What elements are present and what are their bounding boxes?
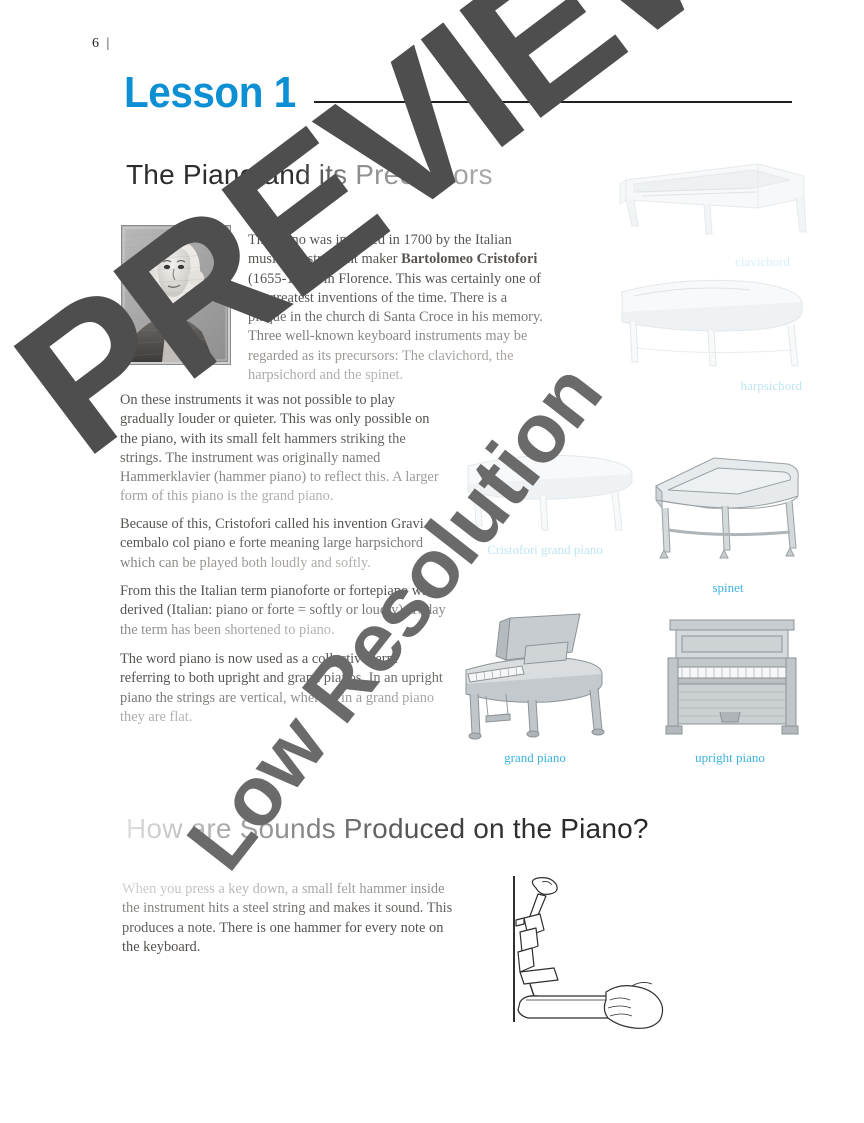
paragraph-4-text: From this the Italian term pianoforte or… — [120, 583, 446, 638]
paragraph-4: From this the Italian term pianoforte or… — [120, 582, 450, 640]
cristofori-portrait-image — [121, 225, 231, 365]
paragraph-intro: The piano was invented in 1700 by the It… — [248, 231, 548, 385]
intro-maker-dates: (1655-1731) — [248, 271, 320, 287]
figure-cristofori-grand-piano-caption: Cristofori grand piano — [452, 542, 638, 558]
document-page: 6| Lesson 1 The Piano and its Precursors — [0, 0, 864, 1123]
spinet-image — [648, 438, 806, 574]
portrait-engraving — [122, 226, 228, 362]
paragraph-3: Because of this, Cristofori called his i… — [120, 515, 450, 573]
figure-grand-piano-caption: grand piano — [452, 750, 618, 766]
figure-piano-action-diagram — [480, 872, 690, 1038]
figure-cristofori-grand-piano: Cristofori grand piano — [452, 440, 638, 558]
harpsichord-image — [612, 262, 808, 374]
paragraph-2-text: On these instruments it was not possible… — [120, 392, 439, 504]
upright-piano-image — [650, 612, 808, 742]
lesson-header: Lesson 1 — [124, 70, 804, 122]
figure-spinet-caption: spinet — [648, 580, 808, 596]
figure-spinet: spinet — [648, 438, 808, 596]
paragraph-5: The word piano is now used as a collecti… — [120, 650, 450, 727]
lesson-rule-divider — [314, 101, 792, 103]
intro-precursors: Three well-known keyboard instruments ma… — [248, 328, 527, 383]
intro-line-2-prefix: instrument maker — [296, 251, 401, 267]
figure-grand-piano: grand piano — [452, 612, 618, 766]
intro-maker-name: Bartolomeo Cristofori — [401, 251, 537, 267]
paragraph-6: When you press a key down, a small felt … — [122, 880, 456, 957]
figure-upright-piano: upright piano — [650, 612, 810, 766]
section-heading-piano-precursors: The Piano and its Precursors — [126, 158, 493, 192]
page-number: 6| — [92, 36, 110, 52]
figure-harpsichord: harpsichord — [612, 262, 808, 394]
figure-clavichord: clavichord — [608, 142, 808, 270]
grand-piano-image — [452, 612, 616, 746]
cristofori-grand-piano-image — [452, 440, 638, 538]
section-heading-sounds-produced: How are Sounds Produced on the Piano? — [126, 812, 649, 846]
paragraph-5-text: The word piano is now used as a collecti… — [120, 651, 443, 725]
paragraph-2: On these instruments it was not possible… — [120, 391, 450, 507]
paragraph-6-text: When you press a key down, a small felt … — [122, 881, 452, 955]
paragraph-3-text: Because of this, Cristofori called his i… — [120, 516, 424, 571]
lesson-title: Lesson 1 — [124, 70, 296, 116]
figure-harpsichord-caption: harpsichord — [612, 378, 808, 394]
page-number-value: 6 — [92, 36, 100, 51]
paragraph-intro-text: The piano was invented in 1700 by the It… — [248, 232, 543, 383]
figure-upright-piano-caption: upright piano — [650, 750, 810, 766]
hammer-action-image — [480, 872, 690, 1038]
page-number-separator: | — [107, 36, 110, 52]
clavichord-image — [608, 142, 808, 252]
